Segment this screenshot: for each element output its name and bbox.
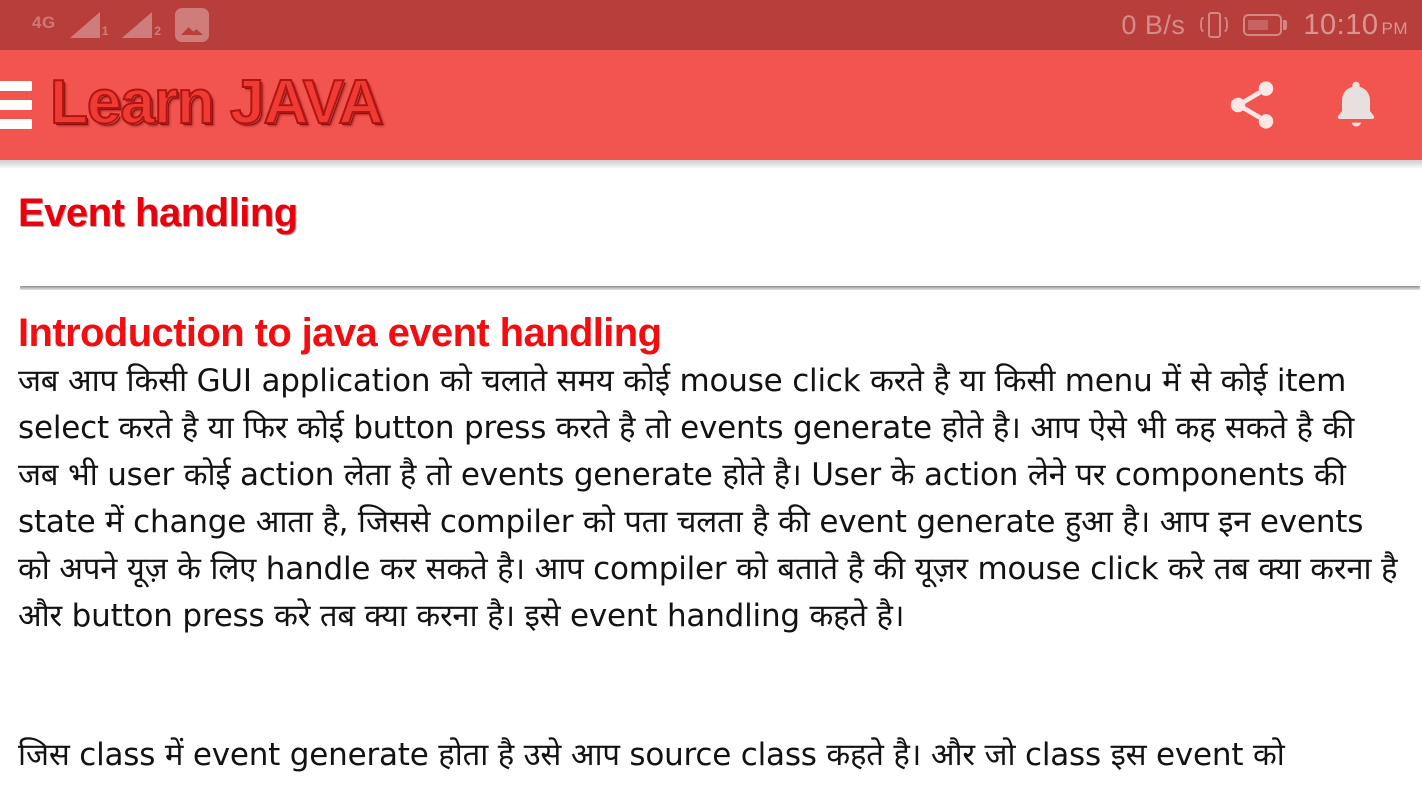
status-bar-left: 4G 1 2 [32,8,209,42]
clock-time: 10:10 [1303,9,1378,41]
clock-meridiem: PM [1382,19,1409,38]
app-bar-actions [1220,73,1422,137]
body-paragraph-clipped: जिस class में event generate होता है उसे… [18,732,1404,779]
vibrate-wave-left [1200,17,1205,32]
hamburger-menu-icon[interactable] [0,77,32,133]
status-bar-right: 0 B/s 10:10PM [1121,9,1408,41]
vibrate-icon [1201,9,1227,41]
clock-label: 10:10PM [1303,11,1408,40]
app-bar: Learn JAVA [0,50,1422,160]
bell-icon[interactable] [1324,73,1388,137]
network-speed-label: 0 B/s [1121,12,1185,39]
title-divider [20,286,1420,290]
page-title: Event handling [18,191,1404,235]
signal-strength-sim1-icon: 1 [70,12,109,38]
battery-icon [1243,14,1287,36]
signal-strength-sim2-icon: 2 [122,12,161,38]
network-type-label: 4G [32,14,56,31]
section-heading: Introduction to java event handling [18,312,1404,354]
content-area: Event handling Introduction to java even… [0,169,1422,800]
vibrate-wave-right [1223,17,1228,32]
app-bar-shadow [0,160,1422,169]
vibrate-phone-body [1208,12,1221,38]
hamburger-bar [0,100,32,110]
signal-triangle [70,12,100,38]
paragraph-spacer [18,640,1404,732]
body-paragraph: जब आप किसी GUI application को चलाते समय … [18,358,1404,640]
app-title: Learn JAVA [50,72,382,134]
sim2-number-label: 2 [154,25,161,37]
hamburger-bar [0,81,32,91]
status-bar: 4G 1 2 0 B/s 10:10PM [0,0,1422,50]
hamburger-bar [0,119,32,129]
share-icon[interactable] [1220,73,1284,137]
image-icon [175,8,209,42]
battery-cap [1283,20,1287,30]
signal-triangle [122,12,152,38]
sim1-number-label: 1 [102,25,109,37]
battery-fill [1248,20,1268,30]
